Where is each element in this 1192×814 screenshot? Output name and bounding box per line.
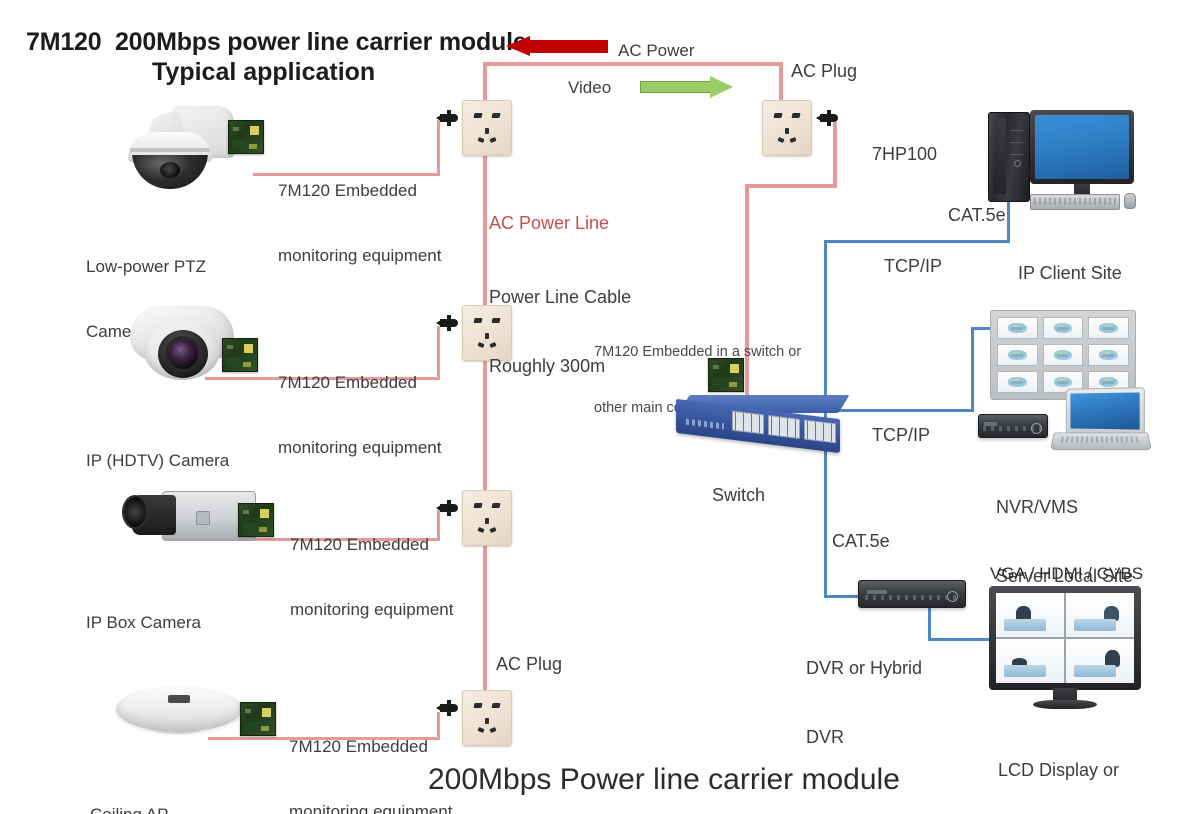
video-output-label: VGA / HDMI / CVBS xyxy=(990,563,1143,585)
ac-plug-label-bottom: AC Plug xyxy=(496,653,562,676)
device-label-ceiling-ap: Ceiling AP xyxy=(90,760,168,814)
lcd-monitor-wall-icon xyxy=(989,586,1141,712)
ac-power-legend-label: AC Power xyxy=(618,40,695,62)
ptz-camera-label-line1: Low-power PTZ xyxy=(86,256,206,278)
socket-three-pin-icon xyxy=(477,718,497,736)
cat5e-label-bottom: CAT.5e xyxy=(832,530,890,553)
page-subtitle: Typical application xyxy=(152,58,375,87)
power-top-bus xyxy=(483,62,783,66)
ip-client-label-line1: IP Client Site xyxy=(1018,262,1122,285)
device-label-dvr: DVR or Hybrid DVR xyxy=(806,611,922,795)
device-label-box-camera: IP Box Camera xyxy=(86,568,201,677)
dvr-icon xyxy=(858,580,966,608)
video-arrow-head xyxy=(710,76,733,98)
embedded-label-line2: monitoring equipment xyxy=(289,801,452,814)
switch-label-line1: Switch xyxy=(712,484,765,507)
net-client-to-tower xyxy=(1007,196,1010,242)
cat5e-label-top: CAT.5e xyxy=(948,204,1006,227)
nvr-server-icon xyxy=(978,414,1048,438)
ac-power-line-heading: AC Power Line xyxy=(489,212,609,235)
box-camera-label-line1: IP Box Camera xyxy=(86,612,201,634)
ac-plug-icon xyxy=(814,107,840,129)
power-right-to-switch-bus xyxy=(745,184,837,188)
embedded-label-ptz: 7M120 Embedded monitoring equipment xyxy=(278,136,441,310)
ac-power-arrow-head xyxy=(506,36,530,56)
video-wall-cell xyxy=(1088,317,1129,339)
pc-tower-icon xyxy=(988,112,1028,200)
video-wall-cell xyxy=(997,371,1038,393)
laptop-icon xyxy=(1052,388,1148,454)
switch-port-block xyxy=(768,415,800,439)
wall-socket-box[interactable] xyxy=(462,490,512,546)
pcb-module-icon xyxy=(222,338,258,372)
ac-power-arrow-shaft xyxy=(528,40,608,53)
socket-three-pin-icon xyxy=(477,518,497,536)
switch-port-block xyxy=(804,419,836,443)
page-title: 7M120 200Mbps power line carrier module xyxy=(26,28,527,57)
ceiling-ap-label-line1: Ceiling AP xyxy=(90,804,168,814)
socket-two-pin-icon xyxy=(774,113,800,120)
box-camera-icon xyxy=(124,489,256,545)
video-wall-icon xyxy=(990,310,1136,400)
video-legend-label: Video xyxy=(568,77,611,99)
video-wall-cell xyxy=(997,344,1038,366)
ac-plug-icon xyxy=(434,107,460,129)
net-dvr-to-lcd xyxy=(928,638,994,641)
lcd-quad-cell xyxy=(996,639,1064,683)
dvr-label-line2: DVR xyxy=(806,726,922,749)
video-wall-cell xyxy=(1088,344,1129,366)
keyboard-icon xyxy=(1030,194,1120,210)
embedded-label-line1: 7M120 Embedded xyxy=(278,180,441,202)
pcb-module-icon xyxy=(228,120,264,154)
wall-socket-switch[interactable] xyxy=(762,100,812,156)
socket-two-pin-icon xyxy=(474,113,500,120)
embedded-label-ap: 7M120 Embedded monitoring equipment xyxy=(289,692,452,814)
video-wall-cell xyxy=(1043,317,1084,339)
socket-two-pin-icon xyxy=(474,503,500,510)
net-nvr-riser xyxy=(971,327,974,412)
ptz-camera-icon xyxy=(118,104,238,186)
embedded-label-line1: 7M120 Embedded xyxy=(289,736,452,758)
pcb-module-icon xyxy=(240,702,276,736)
ceiling-ap-icon xyxy=(116,686,242,742)
lcd-quad-cell xyxy=(996,593,1064,637)
wall-socket-ptz[interactable] xyxy=(462,100,512,156)
embedded-label-line1: 7M120 Embedded xyxy=(278,372,441,394)
video-wall-cell xyxy=(1043,344,1084,366)
device-label-lcd-display: LCD Display or Monitor Wall xyxy=(998,713,1119,814)
power-right-socket-drop xyxy=(833,122,837,184)
tcpip-label-mid: TCP/IP xyxy=(872,424,930,447)
title-headline: 200Mbps power line carrier module xyxy=(115,28,527,56)
net-dvr-to-lcd-riser xyxy=(928,608,931,641)
embedded-label-box: 7M120 Embedded monitoring equipment xyxy=(290,490,453,664)
device-label-switch: Switch xyxy=(712,438,765,553)
embedded-label-line2: monitoring equipment xyxy=(278,437,441,459)
switch-port-block xyxy=(732,411,764,435)
net-client-riser xyxy=(824,240,827,410)
lcd-quad-cell xyxy=(1066,639,1134,683)
mouse-icon xyxy=(1124,193,1136,209)
embedded-label-line2: monitoring equipment xyxy=(278,245,441,267)
lcd-quad-cell xyxy=(1066,593,1134,637)
nvr-vms-label-line1: NVR/VMS xyxy=(996,496,1133,519)
video-wall-cell xyxy=(997,317,1038,339)
hdtv-camera-label-line1: IP (HDTV) Camera xyxy=(86,450,229,472)
net-client-bus xyxy=(824,240,1010,243)
diagram-canvas: 7M120 200Mbps power line carrier module … xyxy=(0,0,1192,814)
socket-three-pin-icon xyxy=(777,128,797,146)
embedded-label-line1: 7M120 Embedded xyxy=(290,534,453,556)
lcd-display-label-line1: LCD Display or xyxy=(998,759,1119,782)
pcb-module-icon xyxy=(238,503,274,537)
embedded-label-hdtv: 7M120 Embedded monitoring equipment xyxy=(278,328,441,502)
pcb-module-icon xyxy=(708,358,744,392)
socket-two-pin-icon xyxy=(474,703,500,710)
ac-plug-label-top: AC Plug xyxy=(791,60,857,83)
module-label-7hp100: 7HP100 xyxy=(872,143,937,166)
net-dvr-link xyxy=(824,595,862,598)
socket-three-pin-icon xyxy=(477,128,497,146)
power-trunk-left xyxy=(483,62,487,722)
embedded-label-line2: monitoring equipment xyxy=(290,599,453,621)
video-arrow-shaft xyxy=(640,81,712,93)
title-model: 7M120 xyxy=(26,28,101,56)
switch-note-line1: 7M120 Embedded in a switch or xyxy=(594,343,801,362)
tcpip-label-top: TCP/IP xyxy=(884,255,942,278)
wall-socket-ap[interactable] xyxy=(462,690,512,746)
dvr-label-line1: DVR or Hybrid xyxy=(806,657,922,680)
desktop-monitor-icon xyxy=(1030,110,1134,204)
